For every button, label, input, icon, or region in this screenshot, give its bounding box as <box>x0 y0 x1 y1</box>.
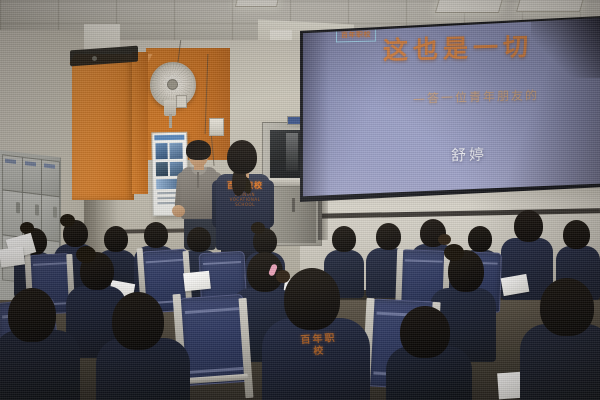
chair-band <box>189 367 243 374</box>
hair-bun <box>76 246 96 263</box>
chair-band <box>185 307 239 314</box>
hair-bun <box>20 222 34 234</box>
student-head <box>468 226 492 252</box>
hair-bun <box>438 234 451 245</box>
slide-title: 这也是一切 <box>383 32 533 66</box>
chair-band <box>146 259 184 264</box>
student-head <box>187 227 211 252</box>
cabinet-handle <box>292 198 295 212</box>
screen-corner-shadow <box>531 18 600 78</box>
panel-knob-icon <box>92 56 97 61</box>
tshirt-logo-subtext: BAINIAN VOCATIONAL SCHOOL <box>223 192 267 207</box>
slide-author: 舒婷 <box>451 145 487 165</box>
orange-partition-column <box>72 60 134 200</box>
student-head <box>376 223 401 250</box>
poster-photo <box>156 162 168 176</box>
student-torso <box>262 318 370 400</box>
student-head <box>144 222 168 248</box>
student-head <box>332 226 356 252</box>
fan-hub <box>167 79 178 90</box>
chair-band <box>33 262 67 266</box>
shirt-placket <box>197 172 199 188</box>
locker-handle <box>16 202 20 213</box>
locker-handle <box>35 204 39 215</box>
handout-sheet <box>0 246 25 267</box>
teacher-hair <box>186 140 211 160</box>
student-head <box>112 292 164 350</box>
chair-band <box>203 261 241 265</box>
student-head <box>563 220 590 249</box>
poster-text-line <box>157 197 175 199</box>
student-head <box>104 226 128 252</box>
wall-junction-box <box>176 95 187 108</box>
poster-photo <box>155 143 167 159</box>
locker-handle <box>53 207 57 218</box>
student-head <box>514 210 543 242</box>
poster-header-band <box>154 135 184 141</box>
chair-band <box>405 259 443 262</box>
wall-junction-box <box>209 118 224 136</box>
projection-screen: 百年职校 这也是一切 —答一位青年朋友的 舒婷 <box>303 18 600 198</box>
photo-scene: 百年职校 这也是一切 —答一位青年朋友的 舒婷 百年职校 BAINIAN VOC… <box>0 0 600 400</box>
light-panel-icon <box>435 0 503 13</box>
handout-sheet <box>183 271 211 292</box>
student-head <box>400 306 450 358</box>
hair-bun <box>251 222 265 234</box>
student-head <box>284 268 340 330</box>
glass-reflection <box>286 133 298 171</box>
light-panel-icon <box>235 0 279 7</box>
student-head <box>8 288 56 342</box>
hair-bun <box>444 244 464 261</box>
screen-edge-shadow <box>303 18 329 198</box>
student-head <box>540 278 594 336</box>
poster-photo <box>169 143 182 159</box>
orange-partition-edge <box>132 52 148 194</box>
fan-mount-pole <box>169 114 172 128</box>
student-hair <box>227 140 257 174</box>
light-panel-icon <box>516 0 584 12</box>
hair-bun <box>60 214 75 227</box>
tshirt-logo-text-front: 百年职校 <box>295 332 343 359</box>
